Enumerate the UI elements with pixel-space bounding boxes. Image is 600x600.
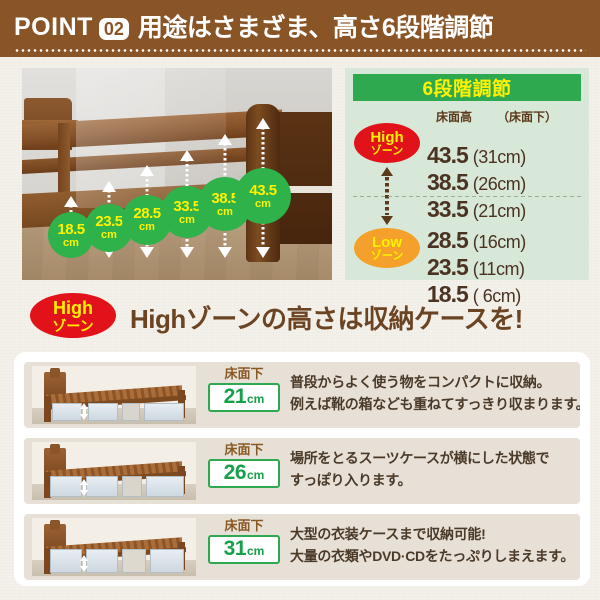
height-marker: 43.5 cm (250, 118, 276, 258)
table-row: 23.5 (11cm) (427, 254, 524, 281)
bed-height-photo: 18.5 cm 23.5 cm 28.5 cm (22, 68, 332, 280)
storage-thumbnail (32, 442, 196, 500)
measure-label: 床面下 (208, 519, 280, 533)
row-floor-height: 33.5 (427, 196, 468, 223)
height-bubble-unit: cm (139, 222, 155, 233)
measure-label: 床面下 (208, 443, 280, 457)
row-floor-height: 43.5 (427, 142, 468, 169)
description-line: 例えば靴の箱なども重ねてすっきり収まります。 (290, 394, 576, 416)
measure-unit: cm (247, 392, 264, 406)
measure-value-box: 26 cm (208, 459, 280, 488)
header-dotted-divider (14, 49, 586, 52)
photo-headboard-column (58, 123, 70, 201)
measure-label: 床面下 (208, 367, 280, 381)
row-floor-height: 38.5 (427, 169, 468, 196)
height-bubble-value: 23.5 (95, 214, 122, 229)
arrow-down-icon (256, 247, 270, 258)
description-line: 場所をとるスーツケースが横にした状態で (290, 448, 576, 470)
height-bubble-value: 33.5 (173, 199, 200, 214)
high-zone-banner: High ゾーン Highゾーンの高さは収納ケースを! (22, 291, 582, 339)
table-title: 6段階調節 (422, 74, 511, 101)
storage-row: 床面下 31 cm 大型の衣装ケースまで収納可能! 大量の衣類やDVD·CDをた… (24, 514, 580, 580)
row-under-floor: (11cm) (473, 259, 525, 280)
height-bubble-unit: cm (255, 199, 271, 210)
height-marker: 28.5 cm (134, 165, 160, 258)
low-zone-sublabel: ゾーン (371, 251, 403, 262)
height-bubble-unit: cm (63, 238, 79, 249)
storage-description: 大型の衣装ケースまで収納可能! 大量の衣類やDVD·CDをたっぷりしまえます。 (290, 524, 576, 567)
under-floor-measure: 床面下 26 cm (208, 443, 280, 488)
table-title-bar: 6段階調節 (353, 74, 581, 101)
storage-row: 床面下 21 cm 普段からよく使う物をコンパクトに収納。 例えば靴の箱なども重… (24, 362, 580, 428)
row-under-floor: (26cm) (473, 174, 526, 195)
row-under-floor: (31cm) (473, 147, 526, 168)
height-arrow-icon (80, 403, 89, 420)
row-under-floor: (21cm) (473, 201, 526, 222)
height-bubble-unit: cm (217, 207, 233, 218)
arrow-down-icon (180, 247, 194, 258)
height-marker: 33.5 cm (174, 150, 200, 258)
height-bubble-unit: cm (101, 230, 117, 241)
point-label: POINT (14, 15, 93, 40)
table-row: 33.5 (21cm) (427, 196, 526, 223)
row-floor-height: 23.5 (427, 254, 468, 281)
arrow-down-icon (140, 247, 154, 258)
storage-examples-card: 床面下 21 cm 普段からよく使う物をコンパクトに収納。 例えば靴の箱なども重… (14, 352, 590, 586)
row-floor-height: 28.5 (427, 227, 468, 254)
height-adjustment-table: 6段階調節 床面高 （床面下） High ゾーン Low ゾーン 43.5 (3… (345, 68, 589, 280)
measure-value-box: 21 cm (208, 383, 280, 412)
banner-badge-sublabel: ゾーン (52, 319, 93, 333)
infographic-page: POINT 02 用途はさまざま、高さ6段階調節 18.5 cm (0, 0, 600, 600)
under-floor-measure: 床面下 31 cm (208, 519, 280, 564)
storage-thumbnail (32, 366, 196, 424)
low-zone-badge: Low ゾーン (354, 228, 420, 268)
measure-unit: cm (247, 468, 264, 482)
description-line: 大量の衣類やDVD·CDをたっぷりしまえます。 (290, 546, 576, 568)
high-zone-label: High (370, 130, 403, 145)
measure-value-box: 31 cm (208, 535, 280, 564)
banner-badge-label: High (53, 299, 93, 317)
arrow-down-icon (218, 247, 232, 258)
storage-row: 床面下 26 cm 場所をとるスーツケースが横にした状態で すっぽり入ります。 (24, 438, 580, 504)
storage-description: 普段からよく使う物をコンパクトに収納。 例えば靴の箱なども重ねてすっきり収まりま… (290, 372, 576, 415)
storage-description: 場所をとるスーツケースが横にした状態で すっぽり入ります。 (290, 448, 576, 491)
high-zone-sublabel: ゾーン (371, 146, 403, 157)
table-row: 43.5 (31cm) (427, 142, 526, 169)
description-line: 大型の衣装ケースまで収納可能! (290, 524, 576, 546)
height-bubble-value: 28.5 (133, 206, 160, 221)
description-line: すっぽり入ります。 (290, 470, 576, 492)
height-arrow-icon (80, 479, 89, 496)
measure-value: 21 (224, 385, 246, 409)
column-header-floor-height: 床面高 (436, 108, 472, 125)
height-bubble-value: 43.5 (249, 183, 276, 198)
height-bubble-value: 18.5 (57, 222, 84, 237)
table-row: 38.5 (26cm) (427, 169, 526, 196)
page-title: 用途はさまざま、高さ6段階調節 (138, 16, 493, 41)
height-bubble-unit: cm (179, 215, 195, 226)
measure-value: 26 (224, 461, 246, 485)
table-row: 28.5 (16cm) (427, 227, 526, 254)
measure-unit: cm (247, 544, 264, 558)
description-line: 普段からよく使う物をコンパクトに収納。 (290, 372, 576, 394)
height-bubble: 43.5 cm (235, 168, 291, 224)
banner-heading: Highゾーンの高さは収納ケースを! (130, 299, 523, 336)
under-floor-measure: 床面下 21 cm (208, 367, 280, 412)
column-header-under-floor: （床面下） (497, 108, 557, 125)
height-marker: 23.5 cm (96, 181, 122, 258)
height-marker: 18.5 cm (58, 196, 84, 258)
row-under-floor: (16cm) (473, 232, 526, 253)
banner-high-badge: High ゾーン (30, 293, 116, 338)
height-arrow-icon (80, 555, 89, 572)
point-number-badge: 02 (99, 18, 129, 40)
low-zone-label: Low (372, 235, 402, 250)
measure-value: 31 (224, 537, 246, 561)
storage-thumbnail (32, 518, 196, 576)
high-zone-badge: High ゾーン (354, 123, 420, 163)
